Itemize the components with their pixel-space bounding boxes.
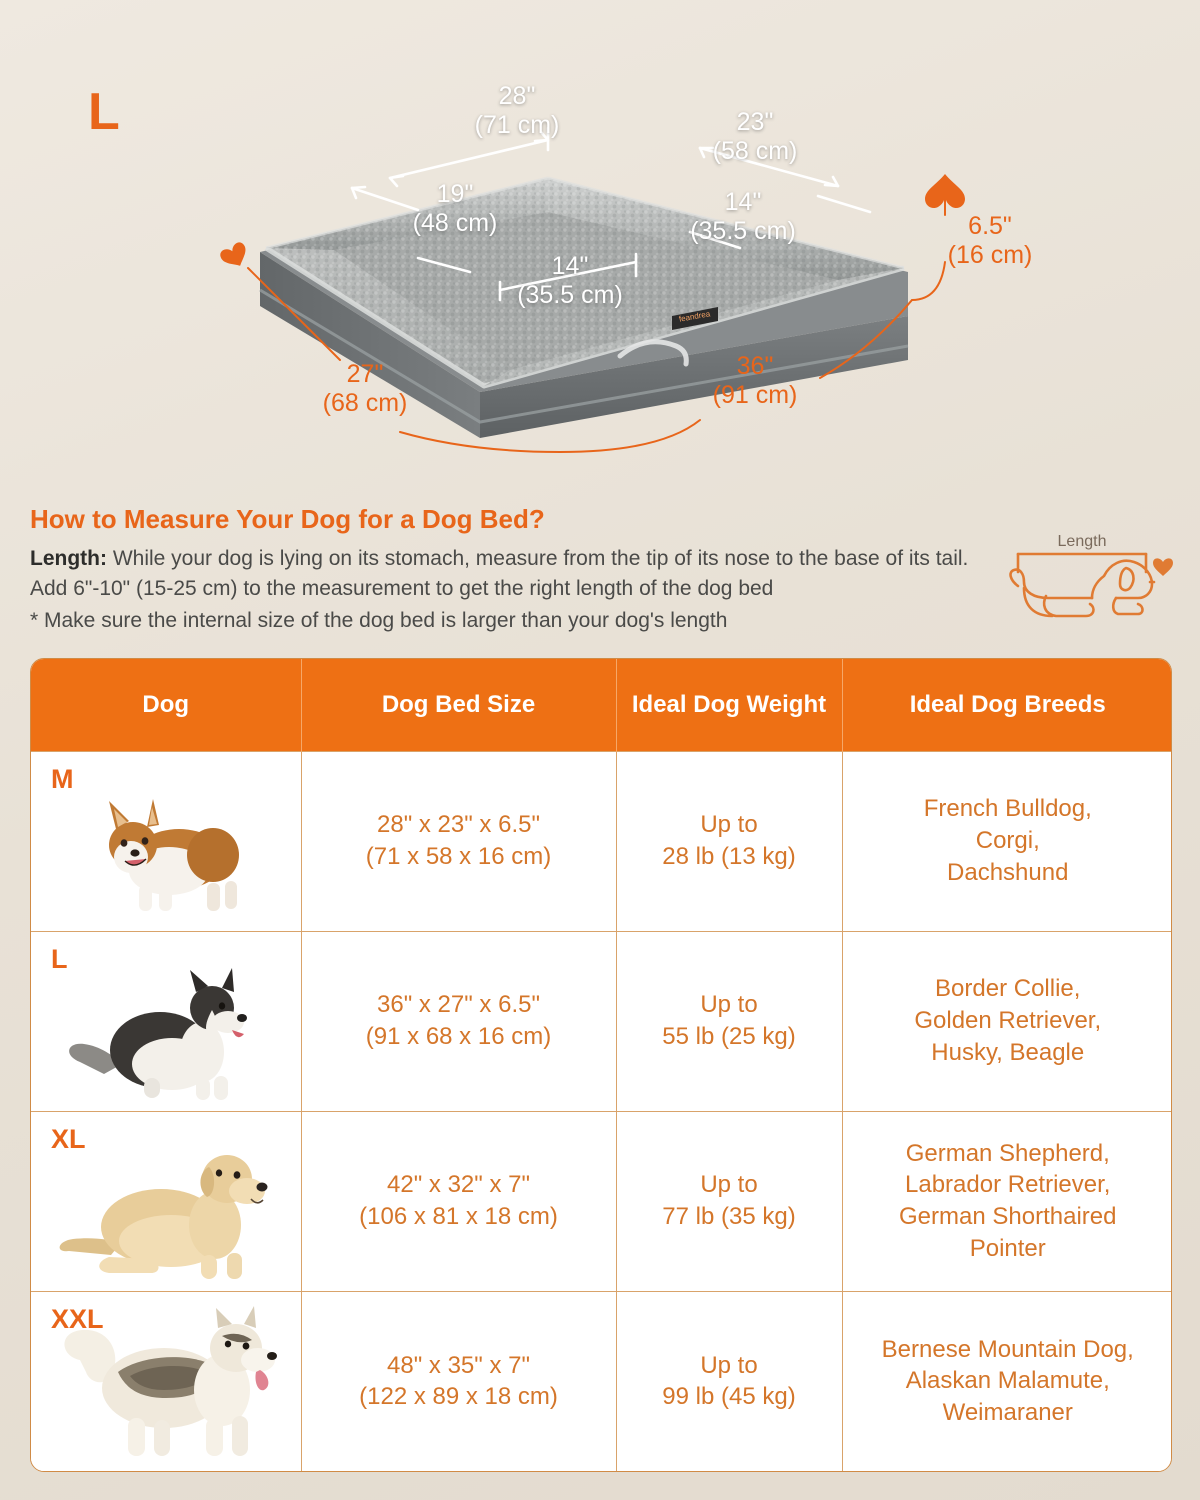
dimension-label-14in-right: 14" (35.5 cm)	[668, 188, 818, 245]
dog-cell-xl: XL	[31, 1111, 301, 1291]
dog-length-diagram: Length	[1000, 524, 1175, 629]
size-letter-l: L	[51, 942, 68, 978]
bed-size-cell: 48" x 35" x 7" (122 x 89 x 18 cm)	[301, 1291, 616, 1471]
breeds-cell: German Shepherd, Labrador Retriever, Ger…	[842, 1111, 1172, 1291]
diagram-length-label: Length	[1058, 533, 1107, 550]
length-label: Length:	[30, 547, 107, 570]
column-header-weight: Ideal Dog Weight	[616, 659, 842, 751]
table-row: XXL	[31, 1291, 1172, 1471]
column-header-dog: Dog	[31, 659, 301, 751]
weight-cell: Up to 99 lb (45 kg)	[616, 1291, 842, 1471]
dimension-label-27in: 27" (68 cm)	[300, 360, 430, 417]
size-letter-xxl: XXL	[51, 1302, 104, 1338]
dimension-label-14in-front: 14" (35.5 cm)	[495, 252, 645, 309]
table-row: XL	[31, 1111, 1172, 1291]
dimension-label-36in: 36" (91 cm)	[680, 352, 830, 409]
dog-cell-m: M	[31, 751, 301, 931]
dog-size-table: Dog Dog Bed Size Ideal Dog Weight Ideal …	[30, 658, 1172, 1472]
table-row: M	[31, 751, 1172, 931]
measure-note: * Make sure the internal size of the dog…	[30, 606, 980, 636]
weight-cell: Up to 55 lb (25 kg)	[616, 931, 842, 1111]
size-badge: L	[88, 82, 120, 142]
measure-instructions: While your dog is lying on its stomach, …	[30, 547, 968, 600]
size-letter-m: M	[51, 762, 74, 798]
measure-section-body: Length: While your dog is lying on its s…	[30, 544, 980, 635]
dimension-label-19in: 19" (48 cm)	[390, 180, 520, 237]
dog-cell-xxl: XXL	[31, 1291, 301, 1471]
bed-size-cell: 42" x 32" x 7" (106 x 81 x 18 cm)	[301, 1111, 616, 1291]
weight-cell: Up to 28 lb (13 kg)	[616, 751, 842, 931]
product-hero: L	[0, 0, 1200, 490]
dog-cell-l: L	[31, 931, 301, 1111]
dimension-label-23in: 23" (58 cm)	[690, 108, 820, 165]
weight-cell: Up to 77 lb (35 kg)	[616, 1111, 842, 1291]
breeds-cell: Bernese Mountain Dog, Alaskan Malamute, …	[842, 1291, 1172, 1471]
column-header-breeds: Ideal Dog Breeds	[842, 659, 1172, 751]
table-header-row: Dog Dog Bed Size Ideal Dog Weight Ideal …	[31, 659, 1172, 751]
measure-section: How to Measure Your Dog for a Dog Bed? L…	[0, 496, 1200, 656]
bed-size-cell: 28" x 23" x 6.5" (71 x 58 x 16 cm)	[301, 751, 616, 931]
measure-section-title: How to Measure Your Dog for a Dog Bed?	[30, 504, 545, 535]
heart-icon	[1153, 558, 1173, 576]
table-row: L	[31, 931, 1172, 1111]
heart-marker-icon	[218, 240, 252, 272]
column-header-bed-size: Dog Bed Size	[301, 659, 616, 751]
dog-photo-border-collie	[31, 932, 301, 1111]
bed-size-cell: 36" x 27" x 6.5" (91 x 68 x 16 cm)	[301, 931, 616, 1111]
breeds-cell: French Bulldog, Corgi, Dachshund	[842, 751, 1172, 931]
dimension-label-28in: 28" (71 cm)	[452, 82, 582, 139]
breeds-cell: Border Collie, Golden Retriever, Husky, …	[842, 931, 1172, 1111]
size-letter-xl: XL	[51, 1122, 86, 1158]
dimension-label-6point5in: 6.5" (16 cm)	[925, 212, 1055, 269]
